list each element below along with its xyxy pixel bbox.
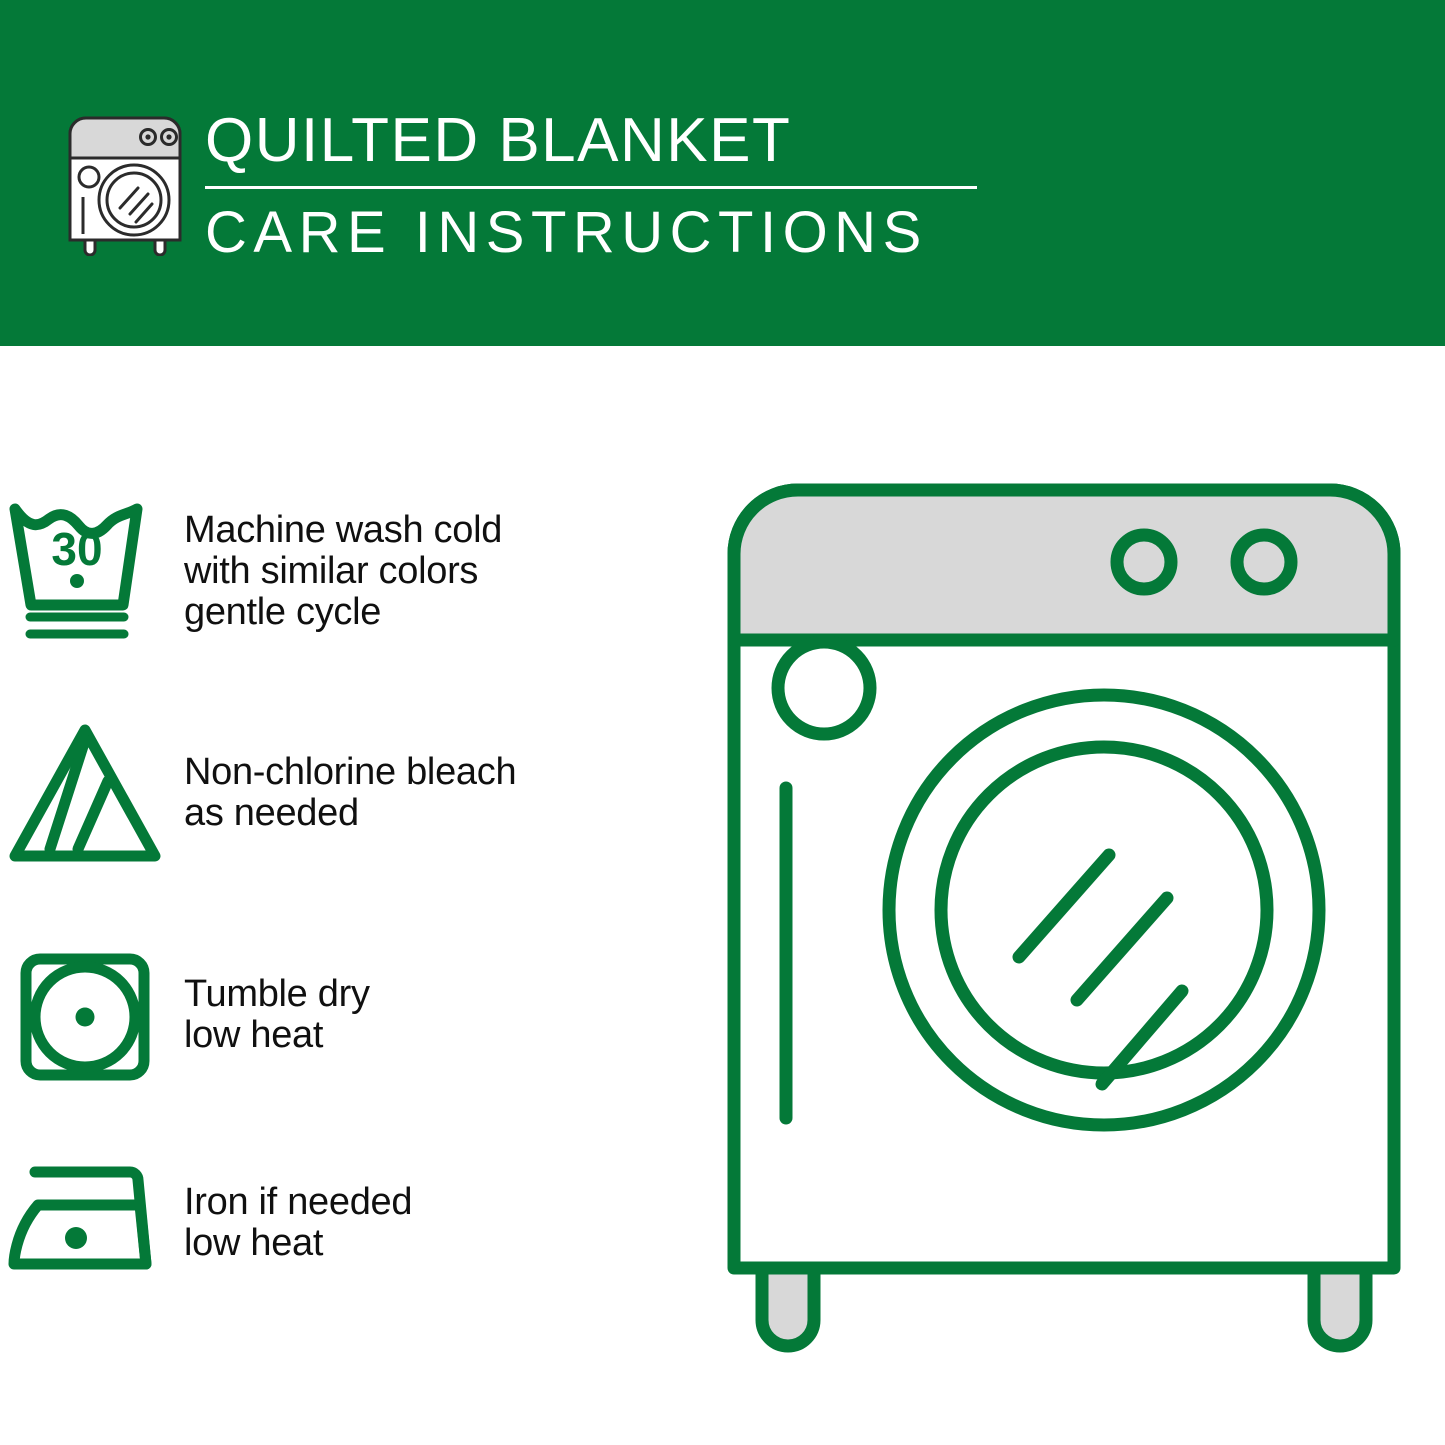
care-item-wash-label: Machine wash cold with similar colors ge…	[170, 492, 700, 633]
header-title-block: QUILTED BLANKET CARE INSTRUCTIONS	[205, 106, 995, 265]
care-instruction-list: 30 Machine wash cold with similar colors…	[0, 346, 700, 1445]
care-text-line: Non-chlorine bleach	[184, 752, 700, 793]
care-text-line: low heat	[184, 1223, 700, 1264]
care-text-line: Tumble dry	[184, 974, 700, 1015]
care-instructions-infographic: QUILTED BLANKET CARE INSTRUCTIONS 30	[0, 0, 1445, 1445]
non-chlorine-bleach-triangle-icon	[0, 718, 170, 868]
header-band: QUILTED BLANKET CARE INSTRUCTIONS	[0, 0, 1445, 346]
care-text-line: with similar colors	[184, 551, 700, 592]
care-item-wash: 30 Machine wash cold with similar colors…	[0, 492, 700, 644]
wash-temperature-label: 30	[51, 523, 102, 575]
care-item-tumble-dry-label: Tumble dry low heat	[170, 946, 700, 1056]
care-text-line: Machine wash cold	[184, 510, 700, 551]
care-text-line: low heat	[184, 1015, 700, 1056]
care-text-line: gentle cycle	[184, 592, 700, 633]
page-subtitle: CARE INSTRUCTIONS	[205, 201, 995, 265]
care-item-iron: Iron if needed low heat	[0, 1158, 700, 1288]
care-item-bleach-label: Non-chlorine bleach as needed	[170, 718, 700, 834]
title-divider	[205, 186, 977, 189]
iron-low-heat-icon	[0, 1158, 170, 1288]
care-text-line: as needed	[184, 793, 700, 834]
washing-machine-icon	[62, 104, 188, 256]
tumble-dry-low-heat-icon	[0, 946, 170, 1088]
front-load-washing-machine-illustration	[714, 470, 1414, 1360]
care-item-iron-label: Iron if needed low heat	[170, 1158, 700, 1264]
care-text-line: Iron if needed	[184, 1182, 700, 1223]
page-title: QUILTED BLANKET	[205, 106, 995, 176]
care-item-tumble-dry: Tumble dry low heat	[0, 946, 700, 1088]
care-item-bleach: Non-chlorine bleach as needed	[0, 718, 700, 868]
machine-wash-30-gentle-icon: 30	[0, 492, 170, 644]
